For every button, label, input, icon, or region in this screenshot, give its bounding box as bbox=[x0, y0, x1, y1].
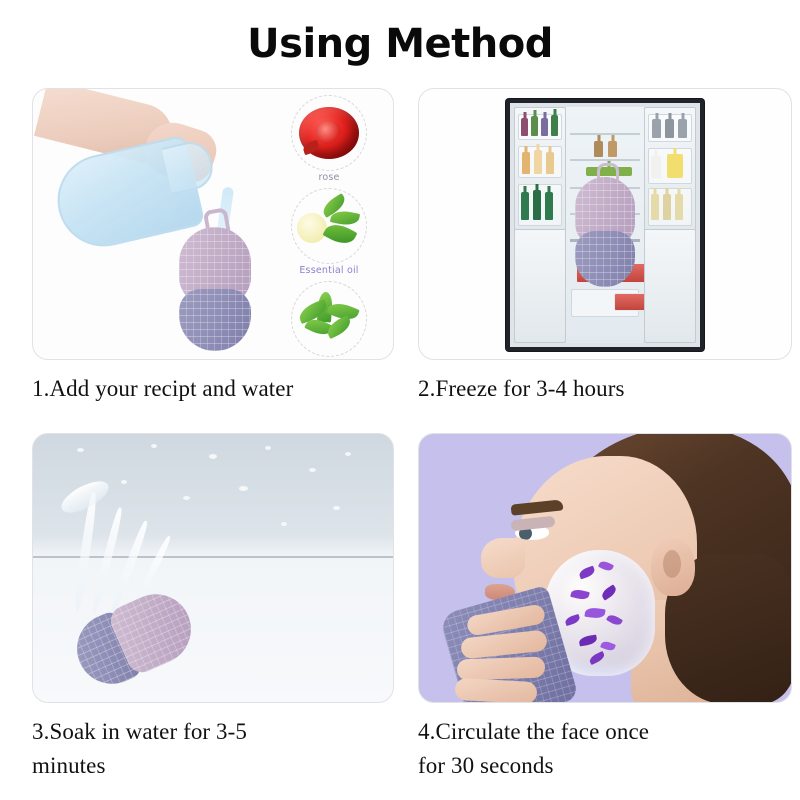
door-bottle bbox=[531, 116, 538, 136]
fridge-shelf bbox=[570, 159, 640, 161]
finger-shape bbox=[454, 678, 537, 703]
lavender-petal bbox=[598, 560, 614, 573]
page-title: Using Method bbox=[0, 22, 800, 66]
step-3-caption-line1: 3.Soak in water for 3-5 bbox=[32, 719, 247, 744]
lavender-petal bbox=[570, 588, 590, 601]
lavender-petal bbox=[606, 613, 623, 627]
step-1-caption: 1.Add your recipt and water bbox=[32, 372, 392, 405]
product-ice-mold-1 bbox=[179, 227, 251, 351]
water-droplet bbox=[309, 468, 316, 472]
lavender-petal bbox=[564, 614, 581, 626]
product-bottom-half bbox=[179, 289, 251, 351]
step-3-caption: 3.Soak in water for 3-5 minutes bbox=[32, 715, 392, 782]
step-4-caption-line1: 4.Circulate the face once bbox=[418, 719, 649, 744]
step-1-image-panel: rose Essential oil bbox=[32, 88, 394, 360]
ingredient-rose: rose bbox=[273, 95, 385, 183]
fridge-door-bottom-right[interactable] bbox=[644, 229, 696, 343]
door-can bbox=[665, 119, 674, 138]
oil-leaves-shape bbox=[295, 195, 363, 257]
door-bottle bbox=[546, 152, 554, 174]
fridge-shelf bbox=[570, 133, 640, 135]
step-2-image-panel bbox=[418, 88, 792, 360]
door-can bbox=[678, 119, 687, 138]
step-1-caption-line1: 1.Add your recipt and water bbox=[32, 376, 293, 401]
lavender-petal bbox=[588, 651, 606, 665]
splash-crest bbox=[57, 475, 113, 519]
step-card-2: 2.Freeze for 3-4 hours bbox=[418, 88, 790, 405]
fridge-jar bbox=[608, 141, 617, 157]
door-bottle bbox=[521, 118, 528, 136]
step-3-image-panel bbox=[32, 433, 394, 703]
water-droplet bbox=[265, 446, 271, 450]
fridge-door-bottom-left[interactable] bbox=[514, 229, 566, 343]
water-droplet bbox=[281, 522, 287, 526]
fridge-door-top-left[interactable] bbox=[514, 107, 566, 231]
door-box bbox=[667, 154, 683, 178]
step-4-image-panel bbox=[418, 433, 792, 703]
step-4-caption: 4.Circulate the face once for 30 seconds bbox=[418, 715, 790, 782]
rose-bloom-shape bbox=[299, 107, 359, 159]
ingredient-essential-oil: Essential oil bbox=[273, 188, 385, 276]
door-bottle bbox=[522, 152, 530, 174]
ear-shape bbox=[651, 538, 695, 596]
ingredient-list: rose Essential oil bbox=[273, 95, 385, 360]
water-droplet bbox=[77, 448, 84, 452]
woman-face-illustration bbox=[419, 434, 791, 702]
ingredient-label-essential-oil: Essential oil bbox=[273, 265, 385, 276]
lavender-petal bbox=[584, 607, 605, 620]
door-bottle bbox=[651, 156, 661, 178]
door-bottle bbox=[541, 118, 548, 136]
finger-shape bbox=[457, 657, 546, 681]
nose-shape bbox=[481, 538, 525, 578]
door-bottle bbox=[551, 115, 558, 136]
door-bottle bbox=[663, 194, 671, 220]
step-2-caption: 2.Freeze for 3-4 hours bbox=[418, 372, 790, 405]
ingredient-label-rose: rose bbox=[273, 172, 385, 183]
water-pitcher-icon bbox=[48, 134, 205, 255]
step-card-3: 3.Soak in water for 3-5 minutes bbox=[32, 433, 392, 782]
water-droplet bbox=[209, 454, 217, 459]
ingredient-label-green-tea: green tea bbox=[273, 358, 385, 360]
water-droplet bbox=[345, 452, 351, 456]
water-droplet bbox=[151, 444, 157, 448]
door-bottle bbox=[675, 194, 683, 220]
rose-icon bbox=[291, 95, 367, 171]
door-can bbox=[652, 119, 661, 138]
rose-leaf-shape bbox=[302, 140, 321, 155]
using-method-infographic: Using Method bbox=[0, 0, 800, 800]
green-tea-icon bbox=[291, 281, 367, 357]
water-droplet bbox=[121, 480, 127, 484]
product-ice-mold-2 bbox=[575, 177, 635, 287]
oil-droplet-shape bbox=[297, 213, 327, 243]
door-bottle bbox=[545, 192, 553, 220]
lavender-petal bbox=[578, 635, 597, 647]
step-card-1: rose Essential oil bbox=[32, 88, 392, 405]
water-droplet bbox=[239, 486, 248, 491]
water-droplet bbox=[333, 506, 340, 510]
door-bottle bbox=[521, 192, 529, 220]
lavender-petal bbox=[578, 566, 596, 580]
door-bottle bbox=[534, 150, 542, 174]
ingredient-green-tea: green tea bbox=[273, 281, 385, 360]
door-bottle bbox=[533, 190, 541, 220]
mesh-texture bbox=[179, 289, 251, 351]
fridge-meat-tray bbox=[614, 293, 648, 311]
lavender-petal bbox=[600, 585, 618, 601]
steps-grid: rose Essential oil bbox=[32, 88, 790, 782]
door-bottle bbox=[651, 194, 659, 220]
refrigerator-icon bbox=[506, 99, 704, 351]
fridge-door-top-right[interactable] bbox=[644, 107, 696, 231]
step-3-caption-line2: minutes bbox=[32, 749, 392, 782]
fridge-jar bbox=[594, 141, 603, 157]
step-4-caption-line2: for 30 seconds bbox=[418, 749, 790, 782]
step-card-4: 4.Circulate the face once for 30 seconds bbox=[418, 433, 790, 782]
step-2-caption-line1: 2.Freeze for 3-4 hours bbox=[418, 376, 625, 401]
essential-oil-icon bbox=[291, 188, 367, 264]
tea-leaves-shape bbox=[298, 292, 360, 346]
